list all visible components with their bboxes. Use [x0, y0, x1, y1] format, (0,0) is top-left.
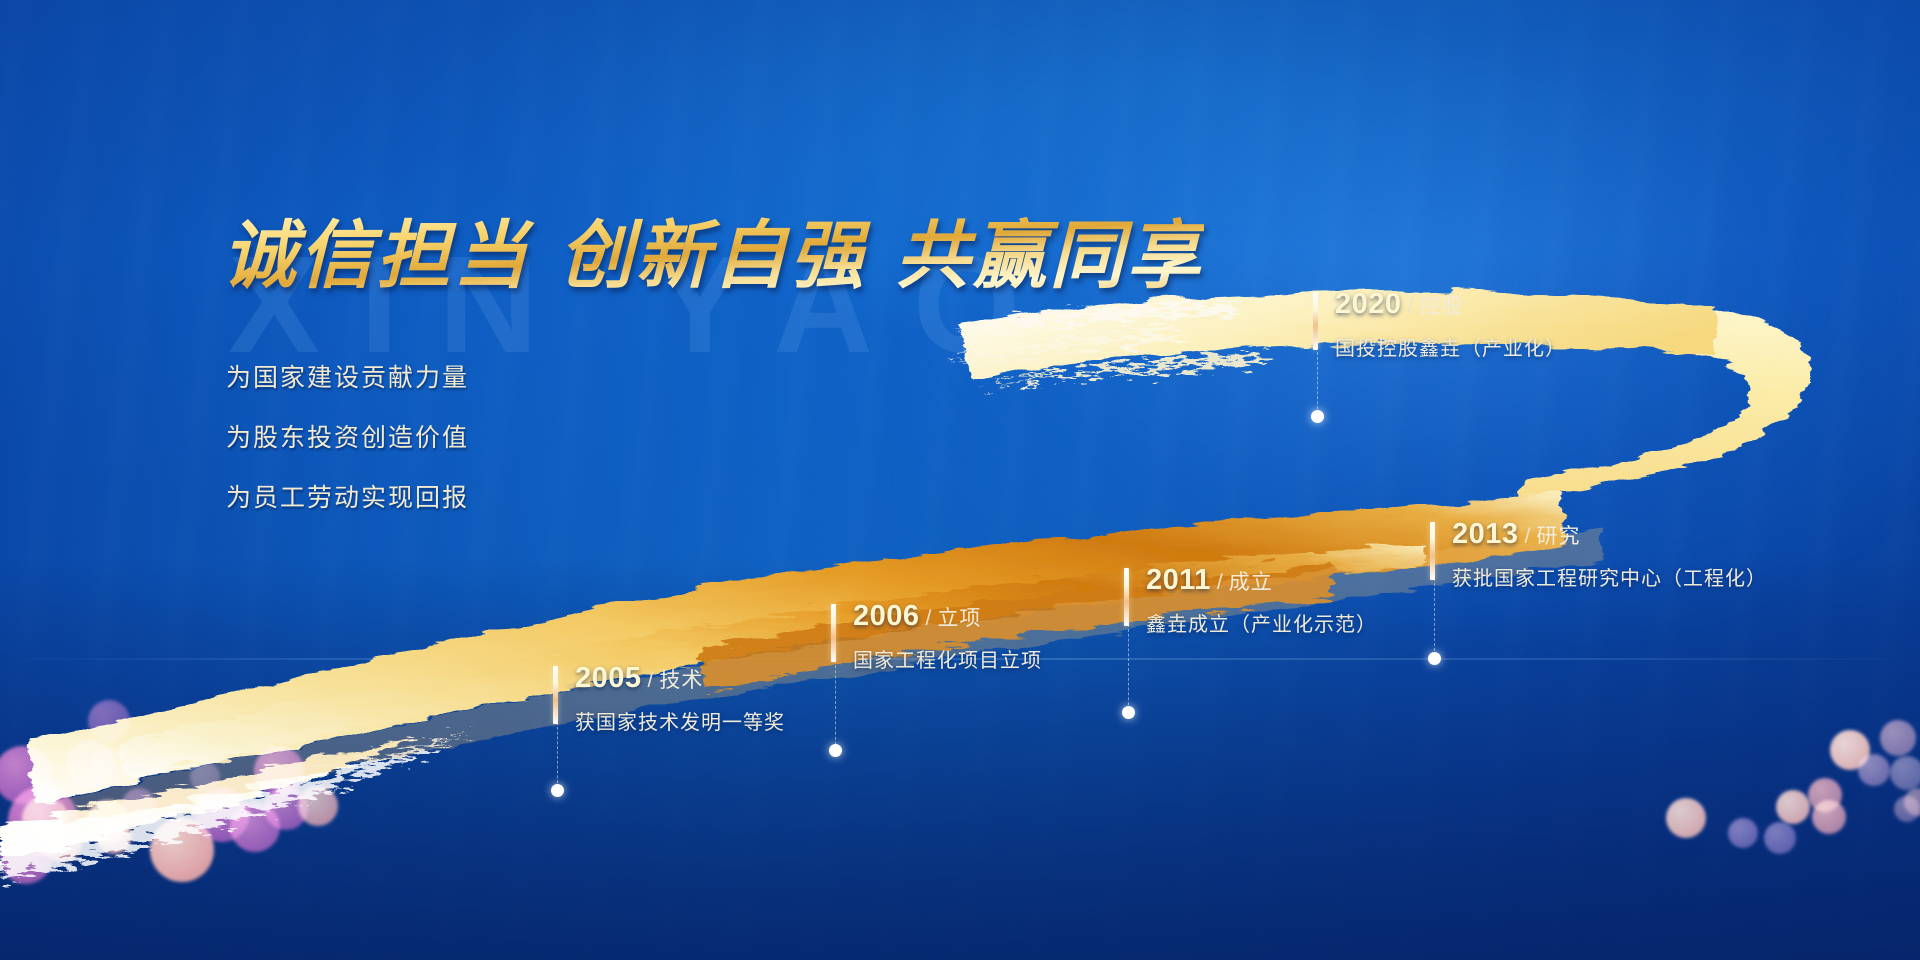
milestone-heading: 2011/成立 — [1146, 566, 1377, 595]
milestone-marker-bar — [1124, 568, 1129, 626]
leader-line-2020 — [1317, 352, 1318, 414]
milestone-year: 2005 — [575, 662, 642, 694]
milestone-year: 2013 — [1452, 518, 1519, 550]
milestone-2011[interactable]: 2011/成立 鑫垚成立（产业化示范） — [1124, 566, 1377, 637]
milestone-year: 2006 — [853, 600, 920, 632]
milestone-year: 2011 — [1146, 564, 1211, 596]
banner-stage: XIN YAO — [0, 0, 1920, 960]
milestone-2006[interactable]: 2006/立项 国家工程化项目立项 — [831, 602, 1042, 673]
milestone-description: 获批国家工程研究中心（工程化） — [1452, 562, 1767, 591]
milestone-separator: / — [1525, 525, 1531, 548]
milestone-2013[interactable]: 2013/研究 获批国家工程研究中心（工程化） — [1430, 520, 1767, 591]
milestone-2020[interactable]: 2020/控股 国投控股鑫垚（产业化） — [1313, 290, 1566, 361]
page-title: 诚信担当 创新自强 共赢同享 — [222, 196, 1204, 303]
milestone-heading: 2006/立项 — [853, 602, 1042, 631]
timeline-node-2011 — [1122, 706, 1135, 719]
timeline-node-2020 — [1311, 410, 1324, 423]
timeline-node-2013 — [1428, 652, 1441, 665]
milestone-description: 鑫垚成立（产业化示范） — [1146, 608, 1377, 637]
milestone-separator: / — [648, 669, 654, 692]
milestone-description: 国家工程化项目立项 — [853, 644, 1042, 673]
milestone-separator: / — [926, 607, 932, 630]
milestone-heading: 2005/技术 — [575, 664, 785, 693]
milestone-separator: / — [1408, 295, 1414, 318]
tagline-list: 为国家建设贡献力量 为股东投资创造价值 为员工劳动实现回报 — [226, 358, 469, 514]
milestone-marker-bar — [1430, 522, 1435, 580]
milestone-tag: 成立 — [1229, 571, 1273, 594]
leader-line-2006 — [835, 660, 836, 750]
tagline-item-3: 为员工劳动实现回报 — [226, 478, 469, 514]
milestone-year: 2020 — [1335, 288, 1402, 320]
milestone-heading: 2013/研究 — [1452, 520, 1767, 549]
tagline-item-2: 为股东投资创造价值 — [226, 418, 469, 454]
milestone-description: 获国家技术发明一等奖 — [575, 706, 785, 735]
milestone-tag: 控股 — [1419, 295, 1463, 318]
milestone-tag: 立项 — [937, 607, 981, 630]
milestone-tag: 技术 — [659, 669, 703, 692]
tagline-item-1: 为国家建设贡献力量 — [226, 358, 469, 394]
milestone-heading: 2020/控股 — [1335, 290, 1566, 319]
milestone-description: 国投控股鑫垚（产业化） — [1335, 332, 1566, 361]
milestone-marker-bar — [831, 604, 836, 662]
milestone-marker-bar — [1313, 292, 1318, 350]
timeline-node-2005 — [551, 784, 564, 797]
milestone-marker-bar — [553, 666, 558, 724]
milestone-2005[interactable]: 2005/技术 获国家技术发明一等奖 — [553, 664, 785, 735]
milestone-tag: 研究 — [1536, 525, 1580, 548]
milestone-separator: / — [1217, 571, 1223, 594]
timeline-node-2006 — [829, 744, 842, 757]
